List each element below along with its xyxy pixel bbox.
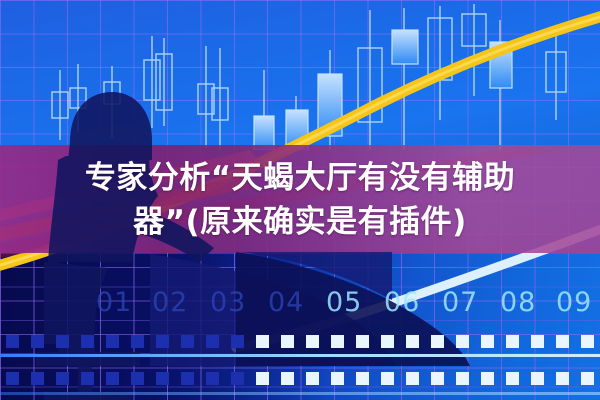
dash-square <box>81 372 94 385</box>
dash-square <box>256 372 269 385</box>
dash-square <box>406 335 419 348</box>
axis-tick-09: 09 <box>556 286 592 320</box>
dash-square <box>231 372 244 385</box>
dash-square <box>31 335 44 348</box>
dash-square <box>481 335 494 348</box>
axis-tick-03: 03 <box>210 286 246 320</box>
dash-square <box>581 372 594 385</box>
dash-square <box>56 335 69 348</box>
axis-tick-08: 08 <box>500 286 536 320</box>
dash-square <box>156 372 169 385</box>
dash-square <box>531 335 544 348</box>
dash-square <box>56 372 69 385</box>
axis-tick-02: 02 <box>152 286 188 320</box>
dash-square <box>131 372 144 385</box>
dash-square <box>156 335 169 348</box>
dash-square <box>6 335 19 348</box>
dash-square <box>381 335 394 348</box>
axis-tick-labels: 01 02 03 04 05 06 07 08 09 <box>0 286 600 320</box>
dash-square <box>431 372 444 385</box>
axis-tick-05: 05 <box>326 286 362 320</box>
dash-square <box>181 372 194 385</box>
dash-square <box>181 335 194 348</box>
dash-square <box>306 335 319 348</box>
axis-tick-04: 04 <box>268 286 304 320</box>
dash-square <box>506 372 519 385</box>
person-arm <box>126 206 214 262</box>
dash-square <box>81 335 94 348</box>
scan-line-lower <box>0 392 600 395</box>
dash-square <box>331 335 344 348</box>
dash-row-lower <box>6 372 600 385</box>
dash-square <box>31 372 44 385</box>
dash-square <box>481 372 494 385</box>
banner-image: 专家分析“天蝎大厅有没有辅助 器”(原来确实是有插件) 01 02 03 04 … <box>0 0 600 400</box>
person-head <box>68 92 152 160</box>
dash-square <box>206 372 219 385</box>
dash-square <box>581 335 594 348</box>
dash-square <box>356 372 369 385</box>
dash-square <box>531 372 544 385</box>
dash-square <box>6 372 19 385</box>
axis-tick-06: 06 <box>384 286 420 320</box>
person-torso <box>48 156 158 262</box>
dash-square <box>306 372 319 385</box>
axis-tick-07: 07 <box>442 286 478 320</box>
dash-square <box>556 372 569 385</box>
dash-square <box>406 372 419 385</box>
dash-square <box>281 372 294 385</box>
dash-square <box>381 372 394 385</box>
axis-tick-01: 01 <box>96 286 132 320</box>
dash-square <box>281 335 294 348</box>
dash-square <box>231 335 244 348</box>
dash-square <box>356 335 369 348</box>
dash-square <box>106 372 119 385</box>
dash-square <box>206 335 219 348</box>
dash-square <box>431 335 444 348</box>
dash-square <box>456 335 469 348</box>
dash-square <box>256 335 269 348</box>
dash-row-upper <box>6 335 600 348</box>
scan-line-upper <box>0 354 600 357</box>
dash-square <box>106 335 119 348</box>
dash-square <box>131 335 144 348</box>
dash-square <box>456 372 469 385</box>
dash-square <box>506 335 519 348</box>
dash-square <box>331 372 344 385</box>
dash-square <box>556 335 569 348</box>
